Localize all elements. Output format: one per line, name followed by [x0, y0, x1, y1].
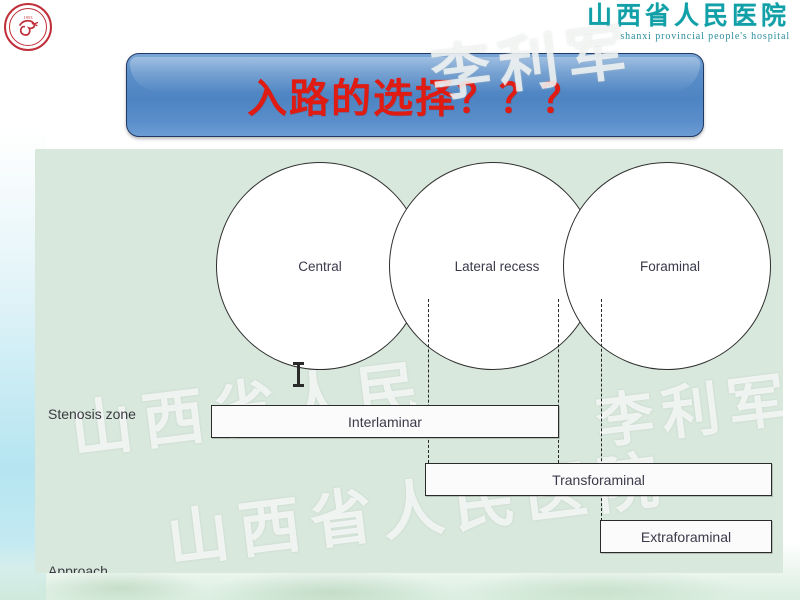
dashed-guide-line-1 [428, 299, 429, 463]
slide-canvas: 1953 山西省人民医院 shanxi provincial people's … [0, 0, 800, 600]
dove-icon [16, 16, 40, 40]
hospital-name-english: shanxi provincial people's hospital [587, 32, 790, 42]
connector-bottom-cap [293, 384, 304, 387]
approach-label-transforaminal: Transforaminal [552, 472, 645, 488]
zone-label-central: Central [270, 259, 370, 274]
row-label-stenosis-zone: Stenosis zone [48, 406, 136, 422]
hospital-name-chinese: 山西省人民医院 [587, 4, 790, 29]
approach-label-interlaminar: Interlaminar [348, 414, 422, 430]
approach-box-interlaminar[interactable]: Interlaminar [211, 405, 559, 438]
approach-label-extraforaminal: Extraforaminal [641, 529, 731, 545]
row-label-approach: Approach [48, 563, 108, 573]
connector-stem [297, 364, 300, 386]
watermark-text: 李利军 [591, 352, 783, 460]
watermark-text: 山西省人民医院 [161, 429, 672, 573]
watermark-text: 山西省人民 [65, 337, 433, 470]
stenosis-approach-diagram: 山西省人民 山西省人民医院 山西省人民医院 李利军 Stenosis zone … [35, 149, 783, 573]
slide-title-banner: 入路的选择？？？ [126, 53, 704, 137]
approach-box-extraforaminal[interactable]: Extraforaminal [600, 520, 772, 553]
hospital-name-block: 山西省人民医院 shanxi provincial people's hospi… [587, 4, 790, 42]
central-interlaminar-connector [293, 362, 304, 387]
approach-box-transforaminal[interactable]: Transforaminal [425, 463, 772, 496]
dashed-guide-line-2 [558, 299, 559, 463]
zone-label-lateral-recess: Lateral recess [437, 259, 557, 274]
hospital-crest-logo: 1953 [4, 3, 56, 55]
zone-label-foraminal: Foraminal [615, 259, 725, 274]
slide-title-text: 入路的选择？？？ [247, 66, 583, 124]
